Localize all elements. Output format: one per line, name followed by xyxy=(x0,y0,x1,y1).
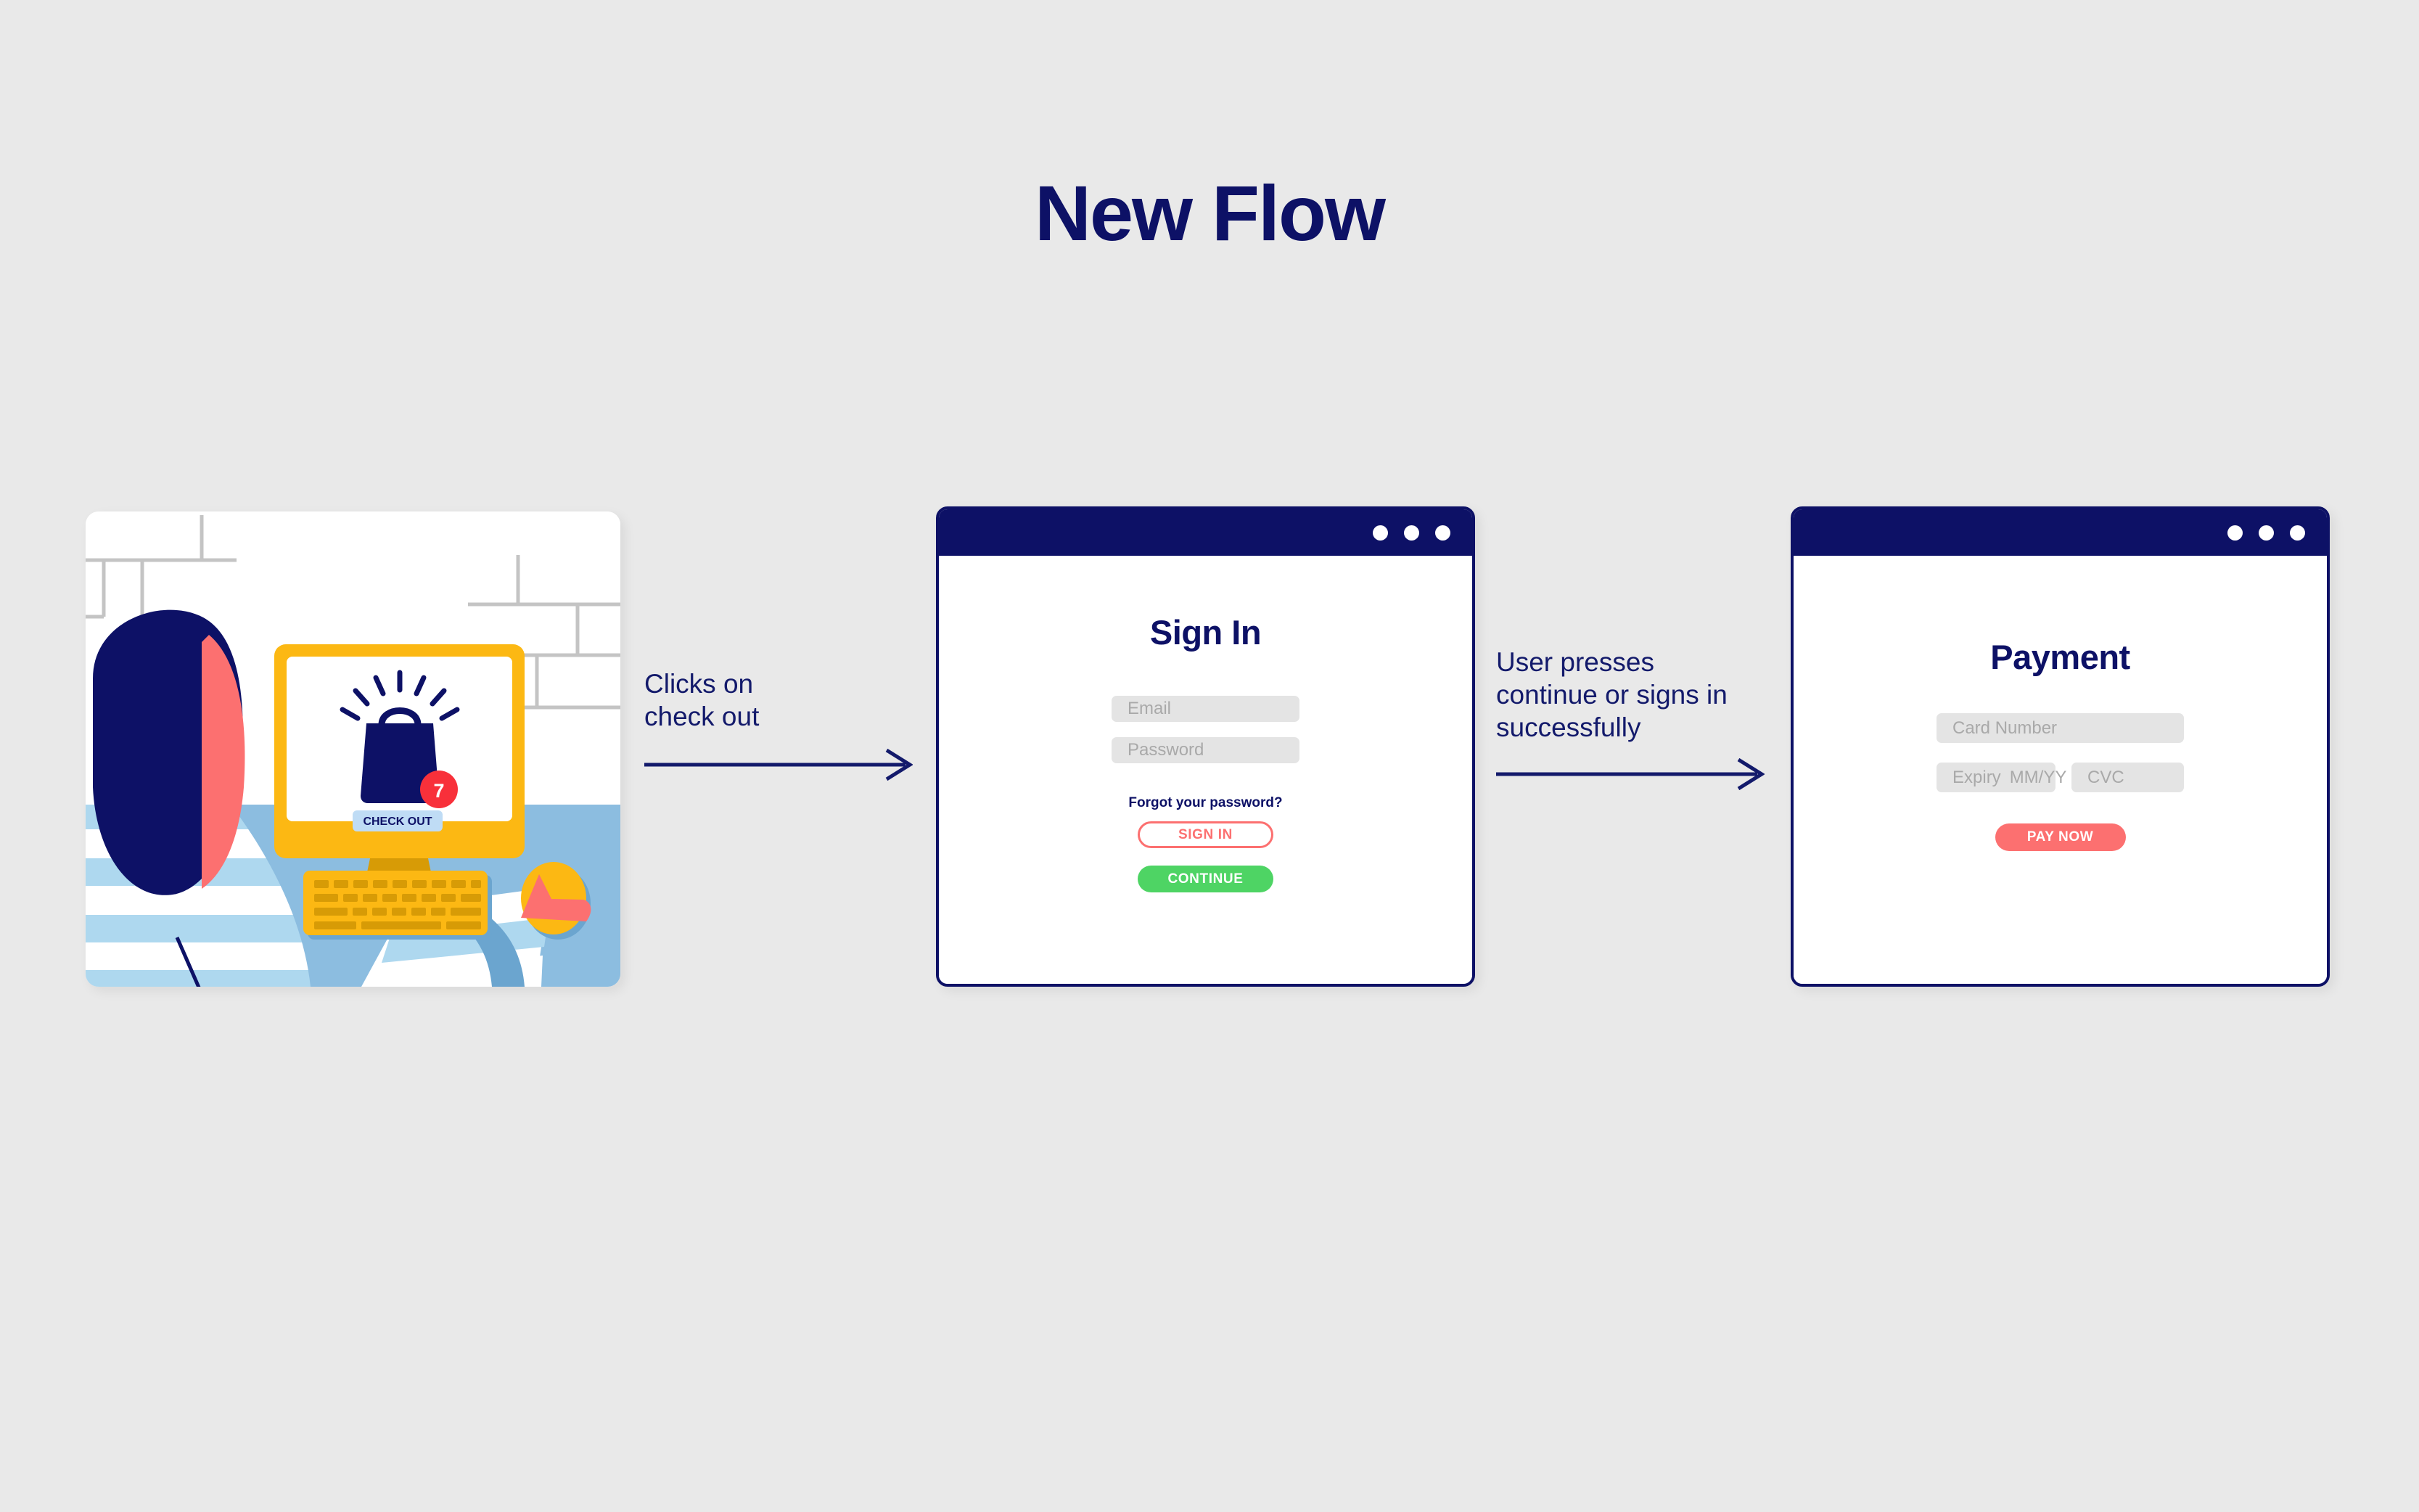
cart-badge-count: 7 xyxy=(433,780,444,802)
keyboard-icon xyxy=(303,871,492,940)
window-dot-icon[interactable] xyxy=(2259,525,2274,541)
payment-title-bar xyxy=(1794,509,2327,556)
payment-content: Payment Card Number Expiry MM/YY CVC PAY… xyxy=(1794,556,2327,984)
check-out-button-graphic: CHECK OUT xyxy=(353,810,443,831)
checkout-illustration-card: 7 CHECK OUT xyxy=(86,511,620,987)
sign-in-button[interactable]: SIGN IN xyxy=(1138,821,1273,848)
arrow-clicks-on-check-out: Clicks on check out xyxy=(644,667,913,781)
pay-now-button[interactable]: PAY NOW xyxy=(1995,823,2126,851)
expiry-input[interactable]: Expiry MM/YY xyxy=(1937,763,2055,792)
card-number-input[interactable]: Card Number xyxy=(1937,713,2184,743)
payment-heading: Payment xyxy=(1990,637,2130,677)
arrow-1-label: Clicks on check out xyxy=(644,667,913,733)
email-input[interactable]: Email xyxy=(1112,696,1299,722)
arrow-1-line-icon xyxy=(644,749,913,781)
expiry-label: Expiry xyxy=(1952,768,2001,788)
continue-button[interactable]: CONTINUE xyxy=(1138,866,1273,892)
forgot-password-link[interactable]: Forgot your password? xyxy=(1128,795,1282,811)
sign-in-content: Sign In Email Password Forgot your passw… xyxy=(939,556,1472,984)
payment-field-row: Expiry MM/YY CVC xyxy=(1937,763,2184,792)
arrow-2-line-icon xyxy=(1496,758,1765,790)
window-dot-icon[interactable] xyxy=(1373,525,1388,541)
check-out-button-label: CHECK OUT xyxy=(363,815,432,828)
window-dot-icon[interactable] xyxy=(2290,525,2305,541)
arrow-2-label: User presses continue or signs in succes… xyxy=(1496,646,1779,744)
cvc-input[interactable]: CVC xyxy=(2071,763,2184,792)
window-dot-icon[interactable] xyxy=(2227,525,2243,541)
arrow-user-presses-continue: User presses continue or signs in succes… xyxy=(1496,646,1779,790)
checkout-desk-illustration: 7 CHECK OUT xyxy=(86,511,620,987)
page-title: New Flow xyxy=(0,174,2419,252)
sign-in-heading: Sign In xyxy=(1150,612,1261,652)
expiry-placeholder: MM/YY xyxy=(2010,768,2067,788)
window-dot-icon[interactable] xyxy=(1404,525,1419,541)
sign-in-title-bar xyxy=(939,509,1472,556)
window-dot-icon[interactable] xyxy=(1435,525,1450,541)
password-input[interactable]: Password xyxy=(1112,737,1299,763)
sign-in-browser-window: Sign In Email Password Forgot your passw… xyxy=(936,506,1475,987)
payment-browser-window: Payment Card Number Expiry MM/YY CVC PAY… xyxy=(1791,506,2330,987)
